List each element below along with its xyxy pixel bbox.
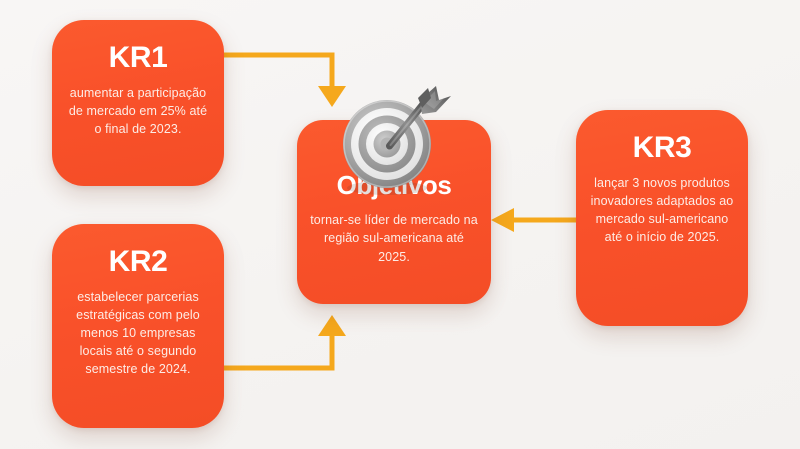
connector-kr1-to-center xyxy=(218,44,348,116)
card-kr3-title: KR3 xyxy=(633,132,692,164)
connector-kr2-line xyxy=(220,334,332,368)
card-kr1-body: aumentar a participação de mercado em 25… xyxy=(52,84,224,138)
connector-kr2-to-center xyxy=(218,306,348,378)
card-kr2[interactable]: KR2 estabelecer parcerias estratégicas c… xyxy=(52,224,224,428)
card-kr3[interactable]: KR3 lançar 3 novos produtos inovadores a… xyxy=(576,110,748,326)
okr-diagram-canvas: KR1 aumentar a participação de mercado e… xyxy=(0,0,800,449)
card-kr1-title: KR1 xyxy=(109,42,168,74)
connector-kr2-arrowhead xyxy=(318,315,346,336)
connector-kr1-line xyxy=(220,55,332,88)
card-objetivos[interactable]: Objetivos tornar-se líder de mercado na … xyxy=(297,120,491,304)
card-objetivos-body: tornar-se líder de mercado na região sul… xyxy=(297,211,491,265)
card-kr2-body: estabelecer parcerias estratégicas com p… xyxy=(52,288,224,379)
connector-kr1-arrowhead xyxy=(318,86,346,107)
connector-kr3-to-center xyxy=(488,205,582,235)
card-kr1[interactable]: KR1 aumentar a participação de mercado e… xyxy=(52,20,224,186)
card-objetivos-title: Objetivos xyxy=(337,172,452,199)
card-kr2-title: KR2 xyxy=(109,246,168,278)
connector-kr3-arrowhead xyxy=(491,208,514,232)
card-kr3-body: lançar 3 novos produtos inovadores adapt… xyxy=(576,174,748,247)
